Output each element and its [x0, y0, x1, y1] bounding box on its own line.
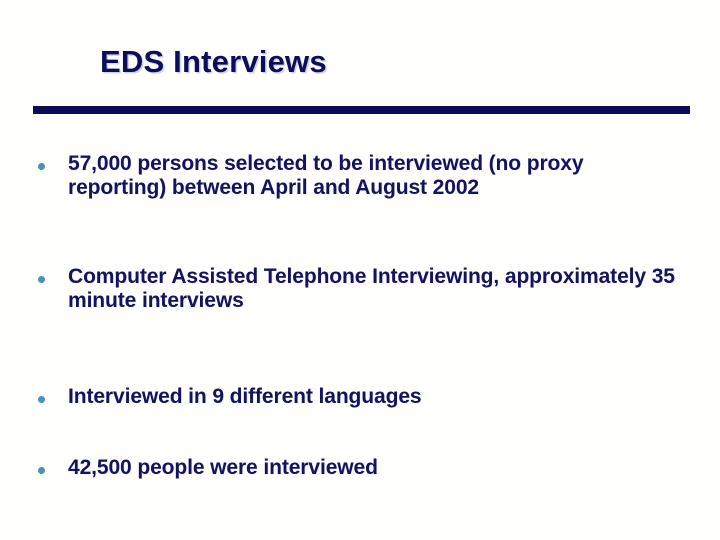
list-item-label: Computer Assisted Telephone Interviewing… [68, 265, 683, 312]
list-item: Computer Assisted Telephone Interviewing… [33, 265, 683, 312]
spacer [33, 199, 683, 265]
bullet-dot-icon [38, 163, 45, 170]
list-item: Interviewed in 9 different languages [33, 385, 683, 409]
list-item-label: 42,500 people were interviewed [68, 456, 683, 480]
list-item-label: Interviewed in 9 different languages [68, 385, 683, 409]
spacer [33, 409, 683, 456]
title-divider [33, 106, 690, 114]
bullet-list: 57,000 persons selected to be interviewe… [33, 152, 683, 479]
spacer [33, 312, 683, 385]
list-item-label: 57,000 persons selected to be interviewe… [68, 152, 683, 199]
page-title: EDS Interviews [100, 44, 327, 80]
list-item: 57,000 persons selected to be interviewe… [33, 152, 683, 199]
list-item: 42,500 people were interviewed [33, 456, 683, 480]
bullet-dot-icon [38, 467, 45, 474]
bullet-dot-icon [38, 396, 45, 403]
bullet-dot-icon [38, 276, 45, 283]
slide: EDS Interviews 57,000 persons selected t… [0, 0, 720, 540]
